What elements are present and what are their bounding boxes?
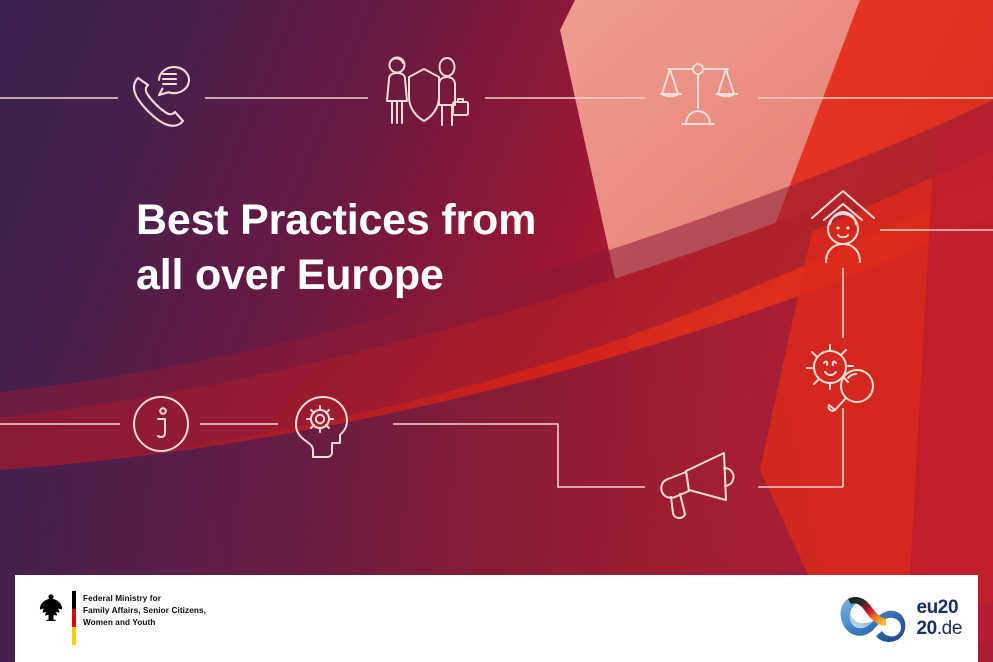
footer-bar: Federal Ministry for Family Affairs, Sen… (15, 575, 978, 662)
eu-wordmark-line1: eu20 (916, 597, 958, 618)
ministry-logo: Federal Ministry for Family Affairs, Sen… (38, 591, 206, 645)
german-flag-bar (72, 591, 76, 645)
page-title: Best Practices from all over Europe (136, 193, 656, 303)
virus-magnifier-icon (802, 344, 884, 420)
head-gear-icon (290, 394, 352, 460)
eu-wordmark-line2: 20 (916, 618, 936, 639)
federal-eagle-icon (38, 593, 64, 623)
eu-presidency-wordmark: eu20 20.de (916, 598, 962, 638)
people-shield-icon (383, 55, 465, 133)
eu-presidency-logo: eu20 20.de (836, 593, 962, 643)
eu2020-infinity-ribbon-icon (836, 593, 910, 643)
slide-canvas: Best Practices from all over Europe Fede… (0, 0, 993, 662)
scales-of-justice-icon (660, 60, 736, 130)
megaphone-icon (658, 450, 738, 522)
phone-chat-icon (130, 58, 192, 132)
info-circle-icon (132, 395, 190, 453)
eu-wordmark-domain: .de (937, 618, 962, 639)
ministry-name: Federal Ministry for Family Affairs, Sen… (83, 591, 206, 629)
connector-elbow-right (393, 424, 645, 487)
woman-shelter-icon (806, 186, 880, 266)
